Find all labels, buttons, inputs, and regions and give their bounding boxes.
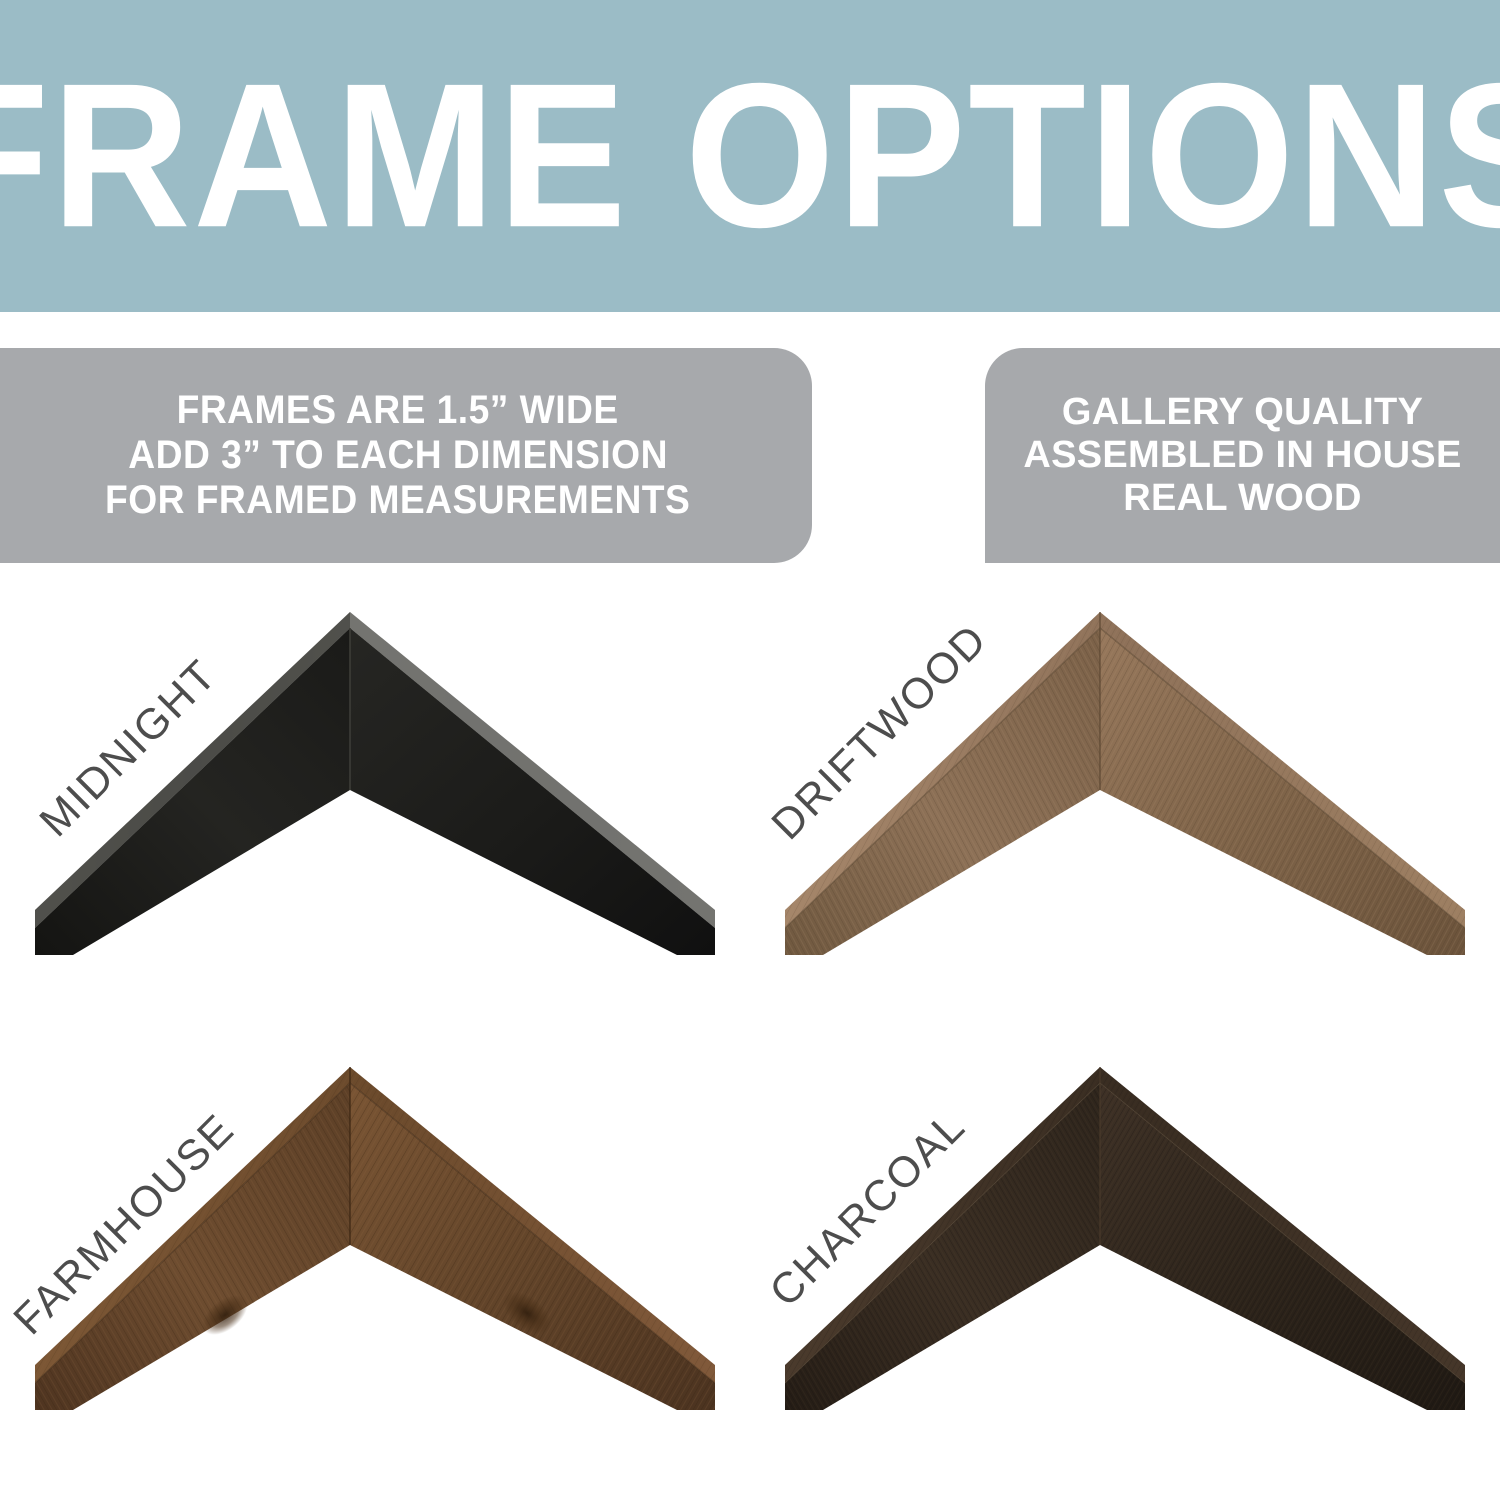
frame-corner-icon: [785, 1065, 1465, 1410]
frame-corner-swatch-charcoal: [785, 1065, 1465, 1410]
frame-corner-icon: [35, 610, 715, 955]
frame-corner-swatch-driftwood: [785, 610, 1465, 955]
frame-sample-midnight[interactable]: MIDNIGHT: [0, 590, 750, 1045]
info-line: GALLERY QUALITY: [1062, 391, 1423, 434]
header-banner: FRAME OPTIONS: [0, 0, 1500, 312]
frame-options-infographic: FRAME OPTIONS FRAMES ARE 1.5” WIDE ADD 3…: [0, 0, 1500, 1500]
info-line: REAL WOOD: [1123, 477, 1361, 520]
frame-corner-icon: [785, 610, 1465, 955]
info-line: FOR FRAMED MEASUREMENTS: [105, 478, 690, 523]
info-line: ASSEMBLED IN HOUSE: [1023, 434, 1461, 477]
info-box-measurements: FRAMES ARE 1.5” WIDE ADD 3” TO EACH DIME…: [0, 348, 812, 563]
frame-sample-charcoal[interactable]: CHARCOAL: [750, 1045, 1500, 1500]
frame-corner-swatch-midnight: [35, 610, 715, 955]
info-line: ADD 3” TO EACH DIMENSION: [128, 433, 668, 478]
info-line: FRAMES ARE 1.5” WIDE: [177, 388, 619, 433]
frame-samples-grid: MIDNIGHT: [0, 590, 1500, 1500]
frame-sample-driftwood[interactable]: DRIFTWOOD: [750, 590, 1500, 1045]
info-box-quality: GALLERY QUALITY ASSEMBLED IN HOUSE REAL …: [985, 348, 1500, 563]
page-title: FRAME OPTIONS: [0, 53, 1500, 258]
frame-sample-farmhouse[interactable]: FARMHOUSE: [0, 1045, 750, 1500]
